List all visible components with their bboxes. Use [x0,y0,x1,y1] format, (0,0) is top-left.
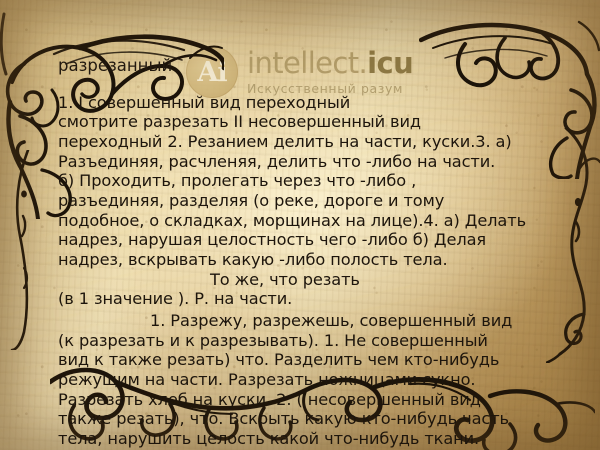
text-line: (в 1 значение ). Р. на части. [58,289,558,309]
text-line: смотрите разрезать II несовершенный вид [58,112,558,132]
text-fragment: То же, что резать [210,270,360,289]
document-text-body: разрезанный 1. I совершенный вид переход… [58,56,558,449]
text-line-indented: 1. Разрежу, разрежешь, совершенный вид [58,311,558,331]
text-fragment: 1. Разрежу, разрежешь, совершенный вид [150,311,512,330]
definition-paragraph-2: 1. Разрежу, разрежешь, совершенный вид (… [58,311,558,449]
text-line: (к разрезать и к разрезывать). 1. Не сов… [58,331,558,351]
text-line: вид к также резать) что. Разделить чем к… [58,350,558,370]
entry-heading: разрезанный [58,56,558,77]
text-line: надрез, нарушая целостность чего -либо б… [58,230,558,250]
text-line-indented: То же, что резать [58,270,558,290]
parchment-page: Ai intellect.icu Искусственный разум [0,0,600,450]
text-line: разъединяя, разделяя (о реке, дороге и т… [58,191,558,211]
text-line: подобное, о складках, морщинах на лице).… [58,211,558,231]
text-line: также резать), что. Вскрыть какую кто-ни… [58,409,558,429]
text-line: 1. I совершенный вид переходный [58,93,558,113]
text-line: надрез, вскрывать какую -либо полость те… [58,250,558,270]
text-line: режущим на части. Разрезать ножницами су… [58,370,558,390]
text-line: тела, нарушить целость какой что-нибудь … [58,429,558,449]
vertical-vine-ornament-left [0,150,44,350]
text-line: б) Проходить, пролегать через что -либо … [58,171,558,191]
definition-paragraph-1: 1. I совершенный вид переходный смотрите… [58,93,558,309]
text-line: переходный 2. Резанием делить на части, … [58,132,558,152]
text-line: Разъединяя, расчленяя, делить что -либо … [58,152,558,172]
text-line: Разрезать хлеб на куски. 2. ( несовершен… [58,390,558,410]
